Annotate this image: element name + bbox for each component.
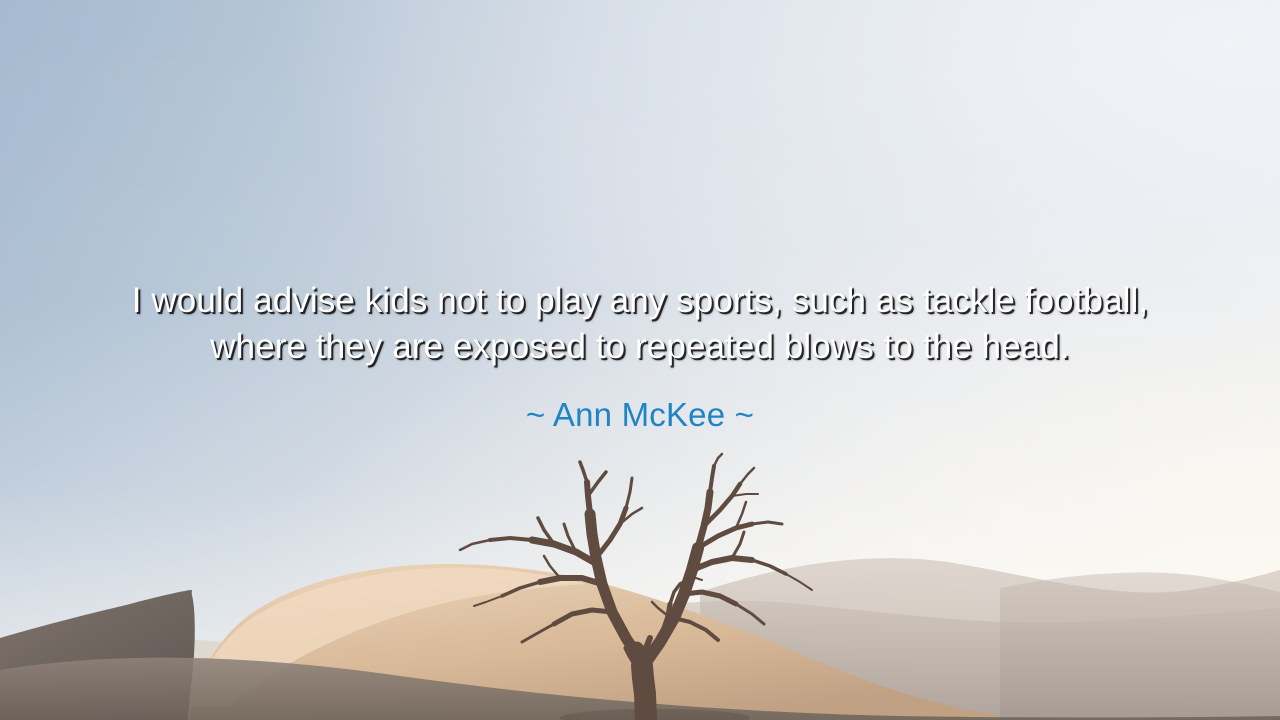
quote-image-canvas: I would advise kids not to play any spor… [0,0,1280,720]
quote-text-block: I would advise kids not to play any spor… [110,278,1170,436]
dead-acacia-tree [440,452,840,720]
quote-text: I would advise kids not to play any spor… [110,278,1170,370]
quote-attribution: ~ Ann McKee ~ [110,370,1170,436]
